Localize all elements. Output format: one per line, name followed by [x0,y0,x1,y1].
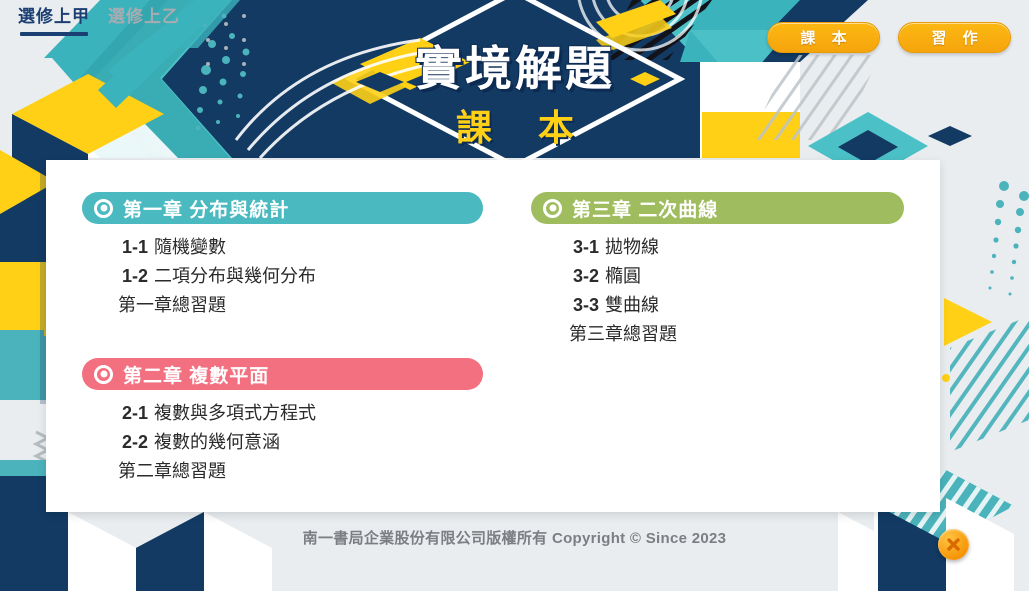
list-item[interactable]: 2-1複數與多項式方程式 [122,400,483,426]
item-label: 二項分布與幾何分布 [154,266,316,286]
chapter-3-items: 3-1拋物線 3-2橢圓 3-3雙曲線 第三章總習題 [531,234,904,347]
item-number: 2-1 [122,403,148,423]
chapter-3-title: 第三章 二次曲線 [572,195,718,222]
item-label: 第二章總習題 [118,461,226,481]
textbook-button[interactable]: 課 本 [767,22,880,53]
target-ring-icon [543,199,562,218]
chapter-1-items: 1-1隨機變數 1-2二項分布與幾何分布 第一章總習題 [82,234,483,318]
item-label: 複數的幾何意涵 [154,432,280,452]
list-item[interactable]: 第一章總習題 [118,292,483,318]
chapter-1: 第一章 分布與統計 1-1隨機變數 1-2二項分布與幾何分布 第一章總習題 [82,192,483,318]
item-number: 2-2 [122,432,148,452]
item-label: 第三章總習題 [569,324,677,344]
chapter-2-items: 2-1複數與多項式方程式 2-2複數的幾何意涵 第二章總習題 [82,400,483,484]
chapter-2: 第二章 複數平面 2-1複數與多項式方程式 2-2複數的幾何意涵 第二章總習題 [82,358,483,484]
book-tabs: 選修上甲 選修上乙 [18,6,180,40]
chapter-column-left: 第一章 分布與統計 1-1隨機變數 1-2二項分布與幾何分布 第一章總習題 [72,192,493,512]
item-label: 複數與多項式方程式 [154,403,316,423]
list-item[interactable]: 3-3雙曲線 [573,292,904,318]
list-item[interactable]: 3-1拋物線 [573,234,904,260]
banner-title: 實境解題 [315,44,715,94]
tab-elective-upper-yi[interactable]: 選修上乙 [108,6,180,40]
chapter-2-title: 第二章 複數平面 [123,361,269,388]
tab-elective-upper-jia[interactable]: 選修上甲 [18,6,90,40]
list-item[interactable]: 2-2複數的幾何意涵 [122,429,483,455]
item-label: 第一章總習題 [118,295,226,315]
list-item[interactable]: 3-2橢圓 [573,263,904,289]
item-label: 雙曲線 [605,295,659,315]
banner-subtitle: 課 本 [315,108,715,148]
chapter-column-right: 第三章 二次曲線 3-1拋物線 3-2橢圓 3-3雙曲線 第三章總習題 [493,192,914,512]
list-item[interactable]: 第三章總習題 [569,321,904,347]
chapter-1-header[interactable]: 第一章 分布與統計 [82,192,483,224]
list-item[interactable]: 1-2二項分布與幾何分布 [122,263,483,289]
tab-label: 選修上甲 [18,7,90,26]
close-button[interactable] [938,529,969,560]
target-ring-icon [94,199,113,218]
chapter-2-header[interactable]: 第二章 複數平面 [82,358,483,390]
workbook-button[interactable]: 習 作 [898,22,1011,53]
item-label: 隨機變數 [154,237,226,257]
chapter-1-title: 第一章 分布與統計 [123,195,289,222]
item-number: 3-3 [573,295,599,315]
app-window: 選修上甲 選修上乙 實境解題 課 本 課 本 習 作 第一章 分布與統計 [0,0,1029,591]
target-ring-icon [94,365,113,384]
list-item[interactable]: 1-1隨機變數 [122,234,483,260]
tab-label: 選修上乙 [108,7,180,26]
item-label: 拋物線 [605,237,659,257]
title-banner: 實境解題 課 本 [315,0,715,160]
chapter-3-header[interactable]: 第三章 二次曲線 [531,192,904,224]
mode-buttons: 課 本 習 作 [767,22,1011,53]
copyright-footer: 南一書局企業股份有限公司版權所有 Copyright © Since 2023 [0,527,1029,548]
close-icon [945,536,962,553]
item-number: 1-1 [122,237,148,257]
tab-active-underline [20,32,88,36]
chapter-3: 第三章 二次曲線 3-1拋物線 3-2橢圓 3-3雙曲線 第三章總習題 [531,192,904,347]
item-number: 3-2 [573,266,599,286]
item-number: 3-1 [573,237,599,257]
item-number: 1-2 [122,266,148,286]
chapter-list-card: 第一章 分布與統計 1-1隨機變數 1-2二項分布與幾何分布 第一章總習題 [46,160,940,512]
item-label: 橢圓 [605,266,641,286]
list-item[interactable]: 第二章總習題 [118,458,483,484]
